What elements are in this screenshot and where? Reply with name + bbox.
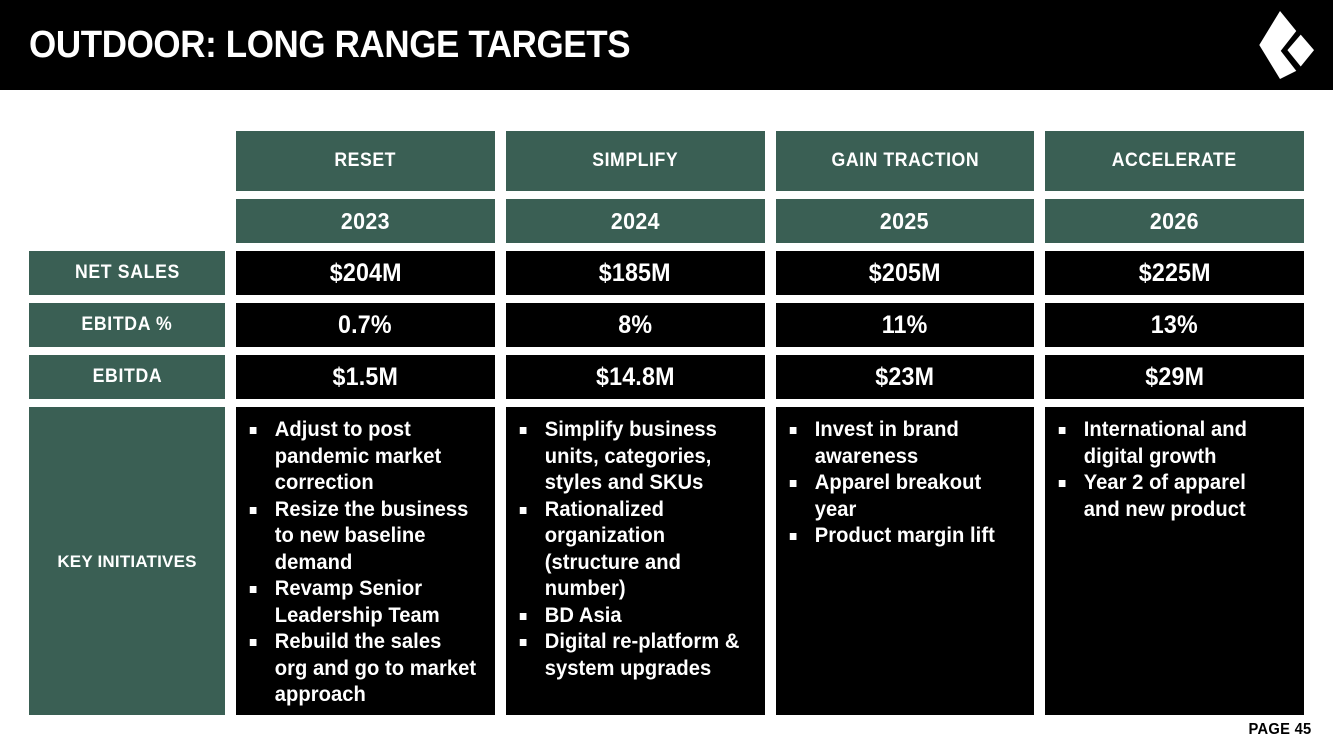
initiatives-list: Adjust to post pandemic market correctio… xyxy=(244,417,487,709)
metric-cell: $14.8M xyxy=(506,355,765,399)
table-row-ebitda: EBITDA $1.5M $14.8M $23M $29M xyxy=(29,355,1304,399)
initiatives-cell-simplify: Simplify business units, categories, sty… xyxy=(506,407,765,715)
metric-value-text: $204M xyxy=(329,259,401,288)
table-row-key-initiatives: KEY INITIATIVES Adjust to post pandemic … xyxy=(29,407,1304,715)
initiatives-list: International and digital growth Year 2 … xyxy=(1053,417,1296,523)
bullet-square-icon xyxy=(520,427,527,434)
list-item: Year 2 of apparel and new product xyxy=(1053,470,1286,523)
bullet-square-icon xyxy=(789,533,796,540)
year-cell-2023: 2023 xyxy=(236,199,495,243)
long-range-targets-table: RESET SIMPLIFY GAIN TRACTION ACCELERATE … xyxy=(29,131,1304,709)
list-item-text: Rationalized organization (structure and… xyxy=(544,498,680,601)
black-diamond-logo-icon xyxy=(1243,8,1317,82)
metric-label-text: NET SALES xyxy=(74,262,179,284)
year-label: 2025 xyxy=(880,208,929,235)
key-initiatives-row-label: KEY INITIATIVES xyxy=(29,407,225,715)
metric-cell: $185M xyxy=(506,251,765,295)
phase-cell-accelerate: ACCELERATE xyxy=(1045,131,1304,191)
metric-cell: 8% xyxy=(506,303,765,347)
bullet-square-icon xyxy=(1059,480,1066,487)
list-item-text: Invest in brand awareness xyxy=(814,418,958,468)
year-row-spacer xyxy=(29,199,225,243)
initiatives-cell-reset: Adjust to post pandemic market correctio… xyxy=(236,407,495,715)
metric-value-text: $29M xyxy=(1145,363,1204,392)
phase-cell-simplify: SIMPLIFY xyxy=(506,131,765,191)
table-row-ebitda-percent: EBITDA % 0.7% 8% 11% 13% xyxy=(29,303,1304,347)
metric-cell: $205M xyxy=(776,251,1035,295)
list-item: Digital re-platform & system upgrades xyxy=(514,629,747,682)
list-item-text: Year 2 of apparel and new product xyxy=(1084,471,1246,521)
bullet-square-icon xyxy=(1059,427,1066,434)
metric-value-text: 0.7% xyxy=(338,311,392,340)
page-number: PAGE 45 xyxy=(1248,721,1311,739)
metric-label-text: EBITDA xyxy=(92,366,162,388)
year-cell-2025: 2025 xyxy=(776,199,1035,243)
list-item-text: Product margin lift xyxy=(814,524,994,547)
year-label: 2023 xyxy=(341,208,390,235)
phase-label: RESET xyxy=(335,150,397,172)
list-item: Apparel breakout year xyxy=(784,470,1017,523)
metric-cell: $29M xyxy=(1045,355,1304,399)
list-item-text: Apparel breakout year xyxy=(814,471,981,521)
metric-cell: 13% xyxy=(1045,303,1304,347)
table-row-net-sales: NET SALES $204M $185M $205M $225M xyxy=(29,251,1304,295)
list-item-text: Simplify business units, categories, sty… xyxy=(544,418,716,494)
bullet-square-icon xyxy=(789,480,796,487)
list-item: Resize the business to new baseline dema… xyxy=(244,497,477,577)
list-item-text: Revamp Senior Leadership Team xyxy=(275,577,440,627)
list-item-text: BD Asia xyxy=(544,604,621,627)
year-cell-2026: 2026 xyxy=(1045,199,1304,243)
metric-value-text: 8% xyxy=(618,311,652,340)
metric-cell: 0.7% xyxy=(236,303,495,347)
list-item: Rebuild the sales org and go to market a… xyxy=(244,629,477,709)
metric-row-label: NET SALES xyxy=(29,251,225,295)
key-initiatives-label-text: KEY INITIATIVES xyxy=(57,550,196,573)
initiatives-list: Simplify business units, categories, sty… xyxy=(514,417,757,682)
list-item: Adjust to post pandemic market correctio… xyxy=(244,417,477,497)
list-item-text: Digital re-platform & system upgrades xyxy=(544,630,739,680)
bullet-square-icon xyxy=(520,613,527,620)
year-label: 2024 xyxy=(611,208,660,235)
phase-label: SIMPLIFY xyxy=(592,150,678,172)
slide: OUTDOOR: LONG RANGE TARGETS RESET SIMPLI… xyxy=(0,0,1333,749)
metric-value-text: $205M xyxy=(869,259,941,288)
list-item-text: Adjust to post pandemic market correctio… xyxy=(275,418,442,494)
page-title: OUTDOOR: LONG RANGE TARGETS xyxy=(29,24,630,66)
year-label: 2026 xyxy=(1150,208,1199,235)
metric-cell: $204M xyxy=(236,251,495,295)
list-item: Product margin lift xyxy=(784,523,1017,550)
table-row-years: 2023 2024 2025 2026 xyxy=(29,199,1304,243)
phase-label: ACCELERATE xyxy=(1112,150,1237,172)
metric-cell: $1.5M xyxy=(236,355,495,399)
list-item: International and digital growth xyxy=(1053,417,1286,470)
list-item: Invest in brand awareness xyxy=(784,417,1017,470)
list-item: Simplify business units, categories, sty… xyxy=(514,417,747,497)
metric-value-text: $23M xyxy=(875,363,934,392)
metric-value-text: $1.5M xyxy=(333,363,399,392)
metric-value-text: $14.8M xyxy=(596,363,675,392)
metric-value-text: 13% xyxy=(1151,311,1198,340)
list-item: BD Asia xyxy=(514,603,747,630)
list-item: Rationalized organization (structure and… xyxy=(514,497,747,603)
metric-row-label: EBITDA xyxy=(29,355,225,399)
list-item-text: Resize the business to new baseline dema… xyxy=(275,498,469,574)
metric-value-text: $225M xyxy=(1139,259,1211,288)
metric-label-text: EBITDA % xyxy=(82,314,173,336)
metric-cell: $23M xyxy=(776,355,1035,399)
initiatives-list: Invest in brand awareness Apparel breako… xyxy=(784,417,1027,550)
bullet-square-icon xyxy=(789,427,796,434)
bullet-square-icon xyxy=(250,427,257,434)
metric-cell: 11% xyxy=(776,303,1035,347)
phase-label: GAIN TRACTION xyxy=(831,150,979,172)
year-cell-2024: 2024 xyxy=(506,199,765,243)
list-item: Revamp Senior Leadership Team xyxy=(244,576,477,629)
bullet-square-icon xyxy=(520,639,527,646)
bullet-square-icon xyxy=(250,639,257,646)
phase-cell-gain-traction: GAIN TRACTION xyxy=(776,131,1035,191)
metric-value-text: 11% xyxy=(882,311,928,340)
phase-row-spacer xyxy=(29,131,225,191)
bullet-square-icon xyxy=(250,586,257,593)
bullet-square-icon xyxy=(520,507,527,514)
list-item-text: International and digital growth xyxy=(1084,418,1247,468)
initiatives-cell-gain-traction: Invest in brand awareness Apparel breako… xyxy=(776,407,1035,715)
metric-cell: $225M xyxy=(1045,251,1304,295)
initiatives-cell-accelerate: International and digital growth Year 2 … xyxy=(1045,407,1304,715)
metric-value-text: $185M xyxy=(599,259,671,288)
metric-row-label: EBITDA % xyxy=(29,303,225,347)
bullet-square-icon xyxy=(250,507,257,514)
list-item-text: Rebuild the sales org and go to market a… xyxy=(275,630,476,706)
phase-cell-reset: RESET xyxy=(236,131,495,191)
table-row-phases: RESET SIMPLIFY GAIN TRACTION ACCELERATE xyxy=(29,131,1304,191)
